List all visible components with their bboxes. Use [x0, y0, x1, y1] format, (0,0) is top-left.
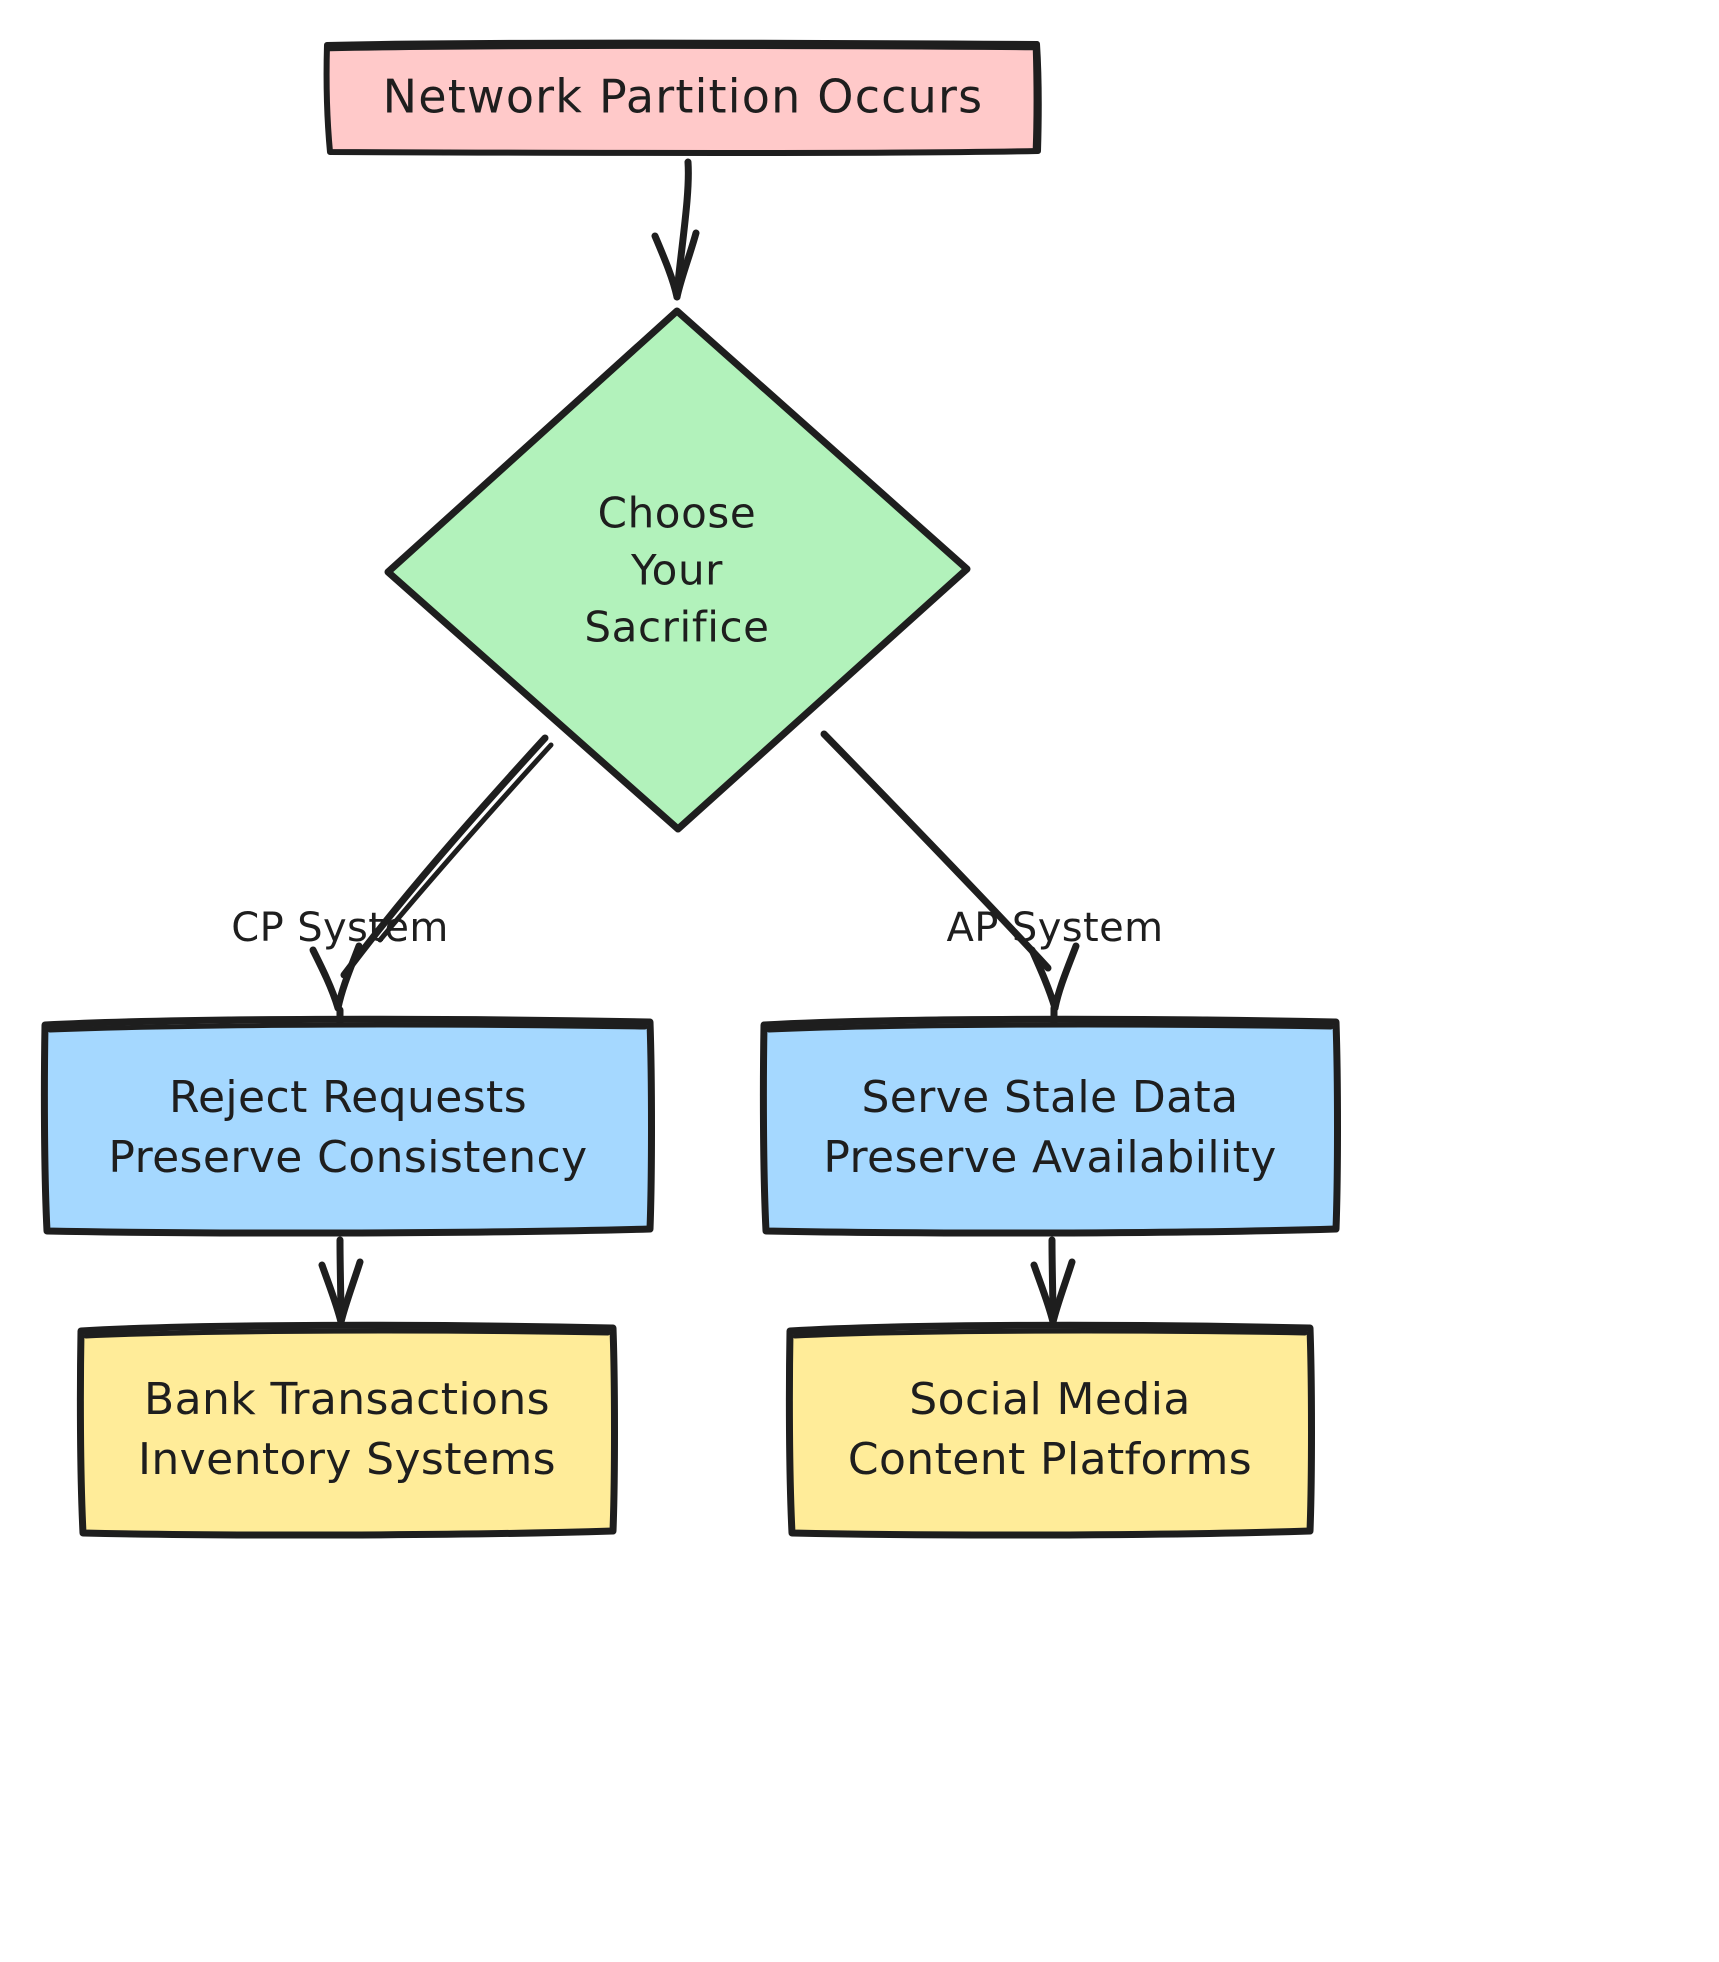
ap-examples-label-line2: Content Platforms	[848, 1434, 1252, 1485]
decision-label-line2: Your	[630, 546, 723, 595]
node-cp-examples[interactable]: Bank Transactions Inventory Systems	[80, 1325, 614, 1535]
edge-arrowhead-1a	[655, 236, 677, 297]
cp-outcome-label-line2: Preserve Consistency	[108, 1132, 587, 1183]
node-ap-examples[interactable]: Social Media Content Platforms	[789, 1325, 1311, 1535]
edge-cp-outcome-to-examples	[322, 1240, 360, 1322]
ap-outcome-label-line2: Preserve Availability	[823, 1132, 1276, 1183]
diagram-canvas: Network Partition Occurs Choose Your Sac…	[0, 0, 1719, 1962]
cp-examples-fill	[82, 1326, 613, 1534]
cp-examples-label-line1: Bank Transactions	[144, 1374, 550, 1425]
edge-partition-to-decision	[655, 162, 696, 297]
edge-arrowhead-ap-b	[1055, 946, 1076, 1008]
edge-label-ap-system: AP System	[947, 905, 1164, 951]
ap-examples-fill	[791, 1326, 1311, 1534]
node-cp-outcome[interactable]: Reject Requests Preserve Consistency	[44, 1019, 651, 1233]
node-ap-outcome[interactable]: Serve Stale Data Preserve Availability	[763, 1019, 1337, 1233]
decision-label-line3: Sacrifice	[584, 603, 769, 652]
edge-ap-outcome-to-examples	[1034, 1240, 1072, 1322]
decision-label-line1: Choose	[598, 489, 757, 538]
node-choose-your-sacrifice[interactable]: Choose Your Sacrifice	[388, 311, 967, 829]
cp-outcome-fill	[46, 1020, 650, 1232]
edge-arrowhead-cp-a	[313, 950, 338, 1008]
ap-outcome-fill	[765, 1020, 1337, 1232]
cp-examples-label-line2: Inventory Systems	[138, 1434, 556, 1485]
cp-outcome-label-line1: Reject Requests	[169, 1072, 527, 1123]
edge-label-cp-system: CP System	[231, 905, 449, 951]
network-partition-label: Network Partition Occurs	[383, 70, 984, 124]
node-network-partition[interactable]: Network Partition Occurs	[327, 43, 1039, 153]
ap-examples-label-line1: Social Media	[909, 1374, 1190, 1425]
flowchart-svg: Network Partition Occurs Choose Your Sac…	[0, 0, 1719, 1962]
ap-outcome-label-line1: Serve Stale Data	[861, 1072, 1238, 1123]
